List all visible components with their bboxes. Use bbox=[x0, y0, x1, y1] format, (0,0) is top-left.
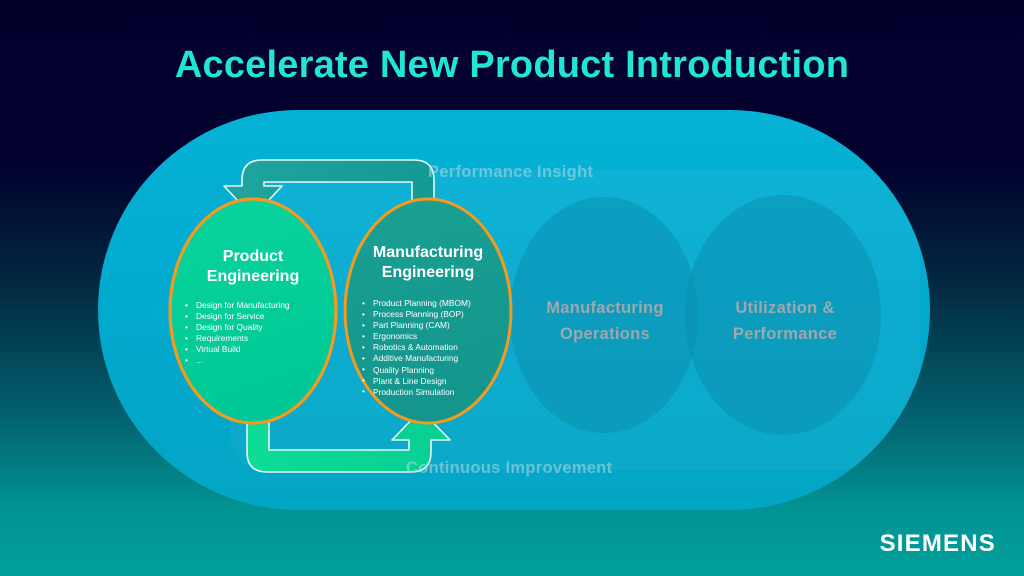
label-utilization-performance-line2: Performance bbox=[690, 322, 880, 348]
product-engineering-title-line2: Engineering bbox=[178, 267, 328, 287]
siemens-logo: SIEMENS bbox=[880, 530, 996, 558]
product-engineering-title: Product Engineering bbox=[178, 247, 328, 288]
list-item: Design for Manufacturing bbox=[185, 300, 290, 311]
label-manufacturing-operations: Manufacturing Operations bbox=[510, 296, 700, 347]
list-item: Part Planning (CAM) bbox=[362, 320, 471, 331]
list-item: Product Planning (MBOM) bbox=[362, 298, 471, 309]
list-item: Virtual Build bbox=[185, 344, 290, 355]
label-performance-insight: Performance Insight bbox=[428, 160, 593, 186]
manufacturing-engineering-title: Manufacturing Engineering bbox=[353, 243, 503, 284]
list-item: Process Planning (BOP) bbox=[362, 309, 471, 320]
list-item: Robotics & Automation bbox=[362, 342, 471, 353]
list-item: ... bbox=[185, 355, 290, 366]
list-item: Plant & Line Design bbox=[362, 376, 471, 387]
manufacturing-engineering-title-line2: Engineering bbox=[353, 263, 503, 283]
label-utilization-performance: Utilization & Performance bbox=[690, 296, 880, 347]
manufacturing-engineering-bullet-list: Product Planning (MBOM) Process Planning… bbox=[362, 298, 471, 398]
list-item: Ergonomics bbox=[362, 331, 471, 342]
label-manufacturing-operations-line2: Operations bbox=[510, 322, 700, 348]
manufacturing-engineering-title-line1: Manufacturing bbox=[353, 243, 503, 263]
slide-canvas: Accelerate New Product Introduction bbox=[0, 0, 1024, 576]
diagram-stage bbox=[0, 0, 1024, 576]
product-engineering-bullet-list: Design for Manufacturing Design for Serv… bbox=[185, 300, 290, 367]
list-item: Design for Service bbox=[185, 311, 290, 322]
product-engineering-title-line1: Product bbox=[178, 247, 328, 267]
list-item: Additive Manufacturing bbox=[362, 353, 471, 364]
label-utilization-performance-line1: Utilization & bbox=[690, 296, 880, 322]
label-manufacturing-operations-line1: Manufacturing bbox=[510, 296, 700, 322]
list-item: Production Simulation bbox=[362, 387, 471, 398]
label-continuous-improvement: Continuous Improvement bbox=[406, 456, 612, 482]
list-item: Design for Quality bbox=[185, 322, 290, 333]
list-item: Quality Planning bbox=[362, 365, 471, 376]
list-item: Requirements bbox=[185, 333, 290, 344]
